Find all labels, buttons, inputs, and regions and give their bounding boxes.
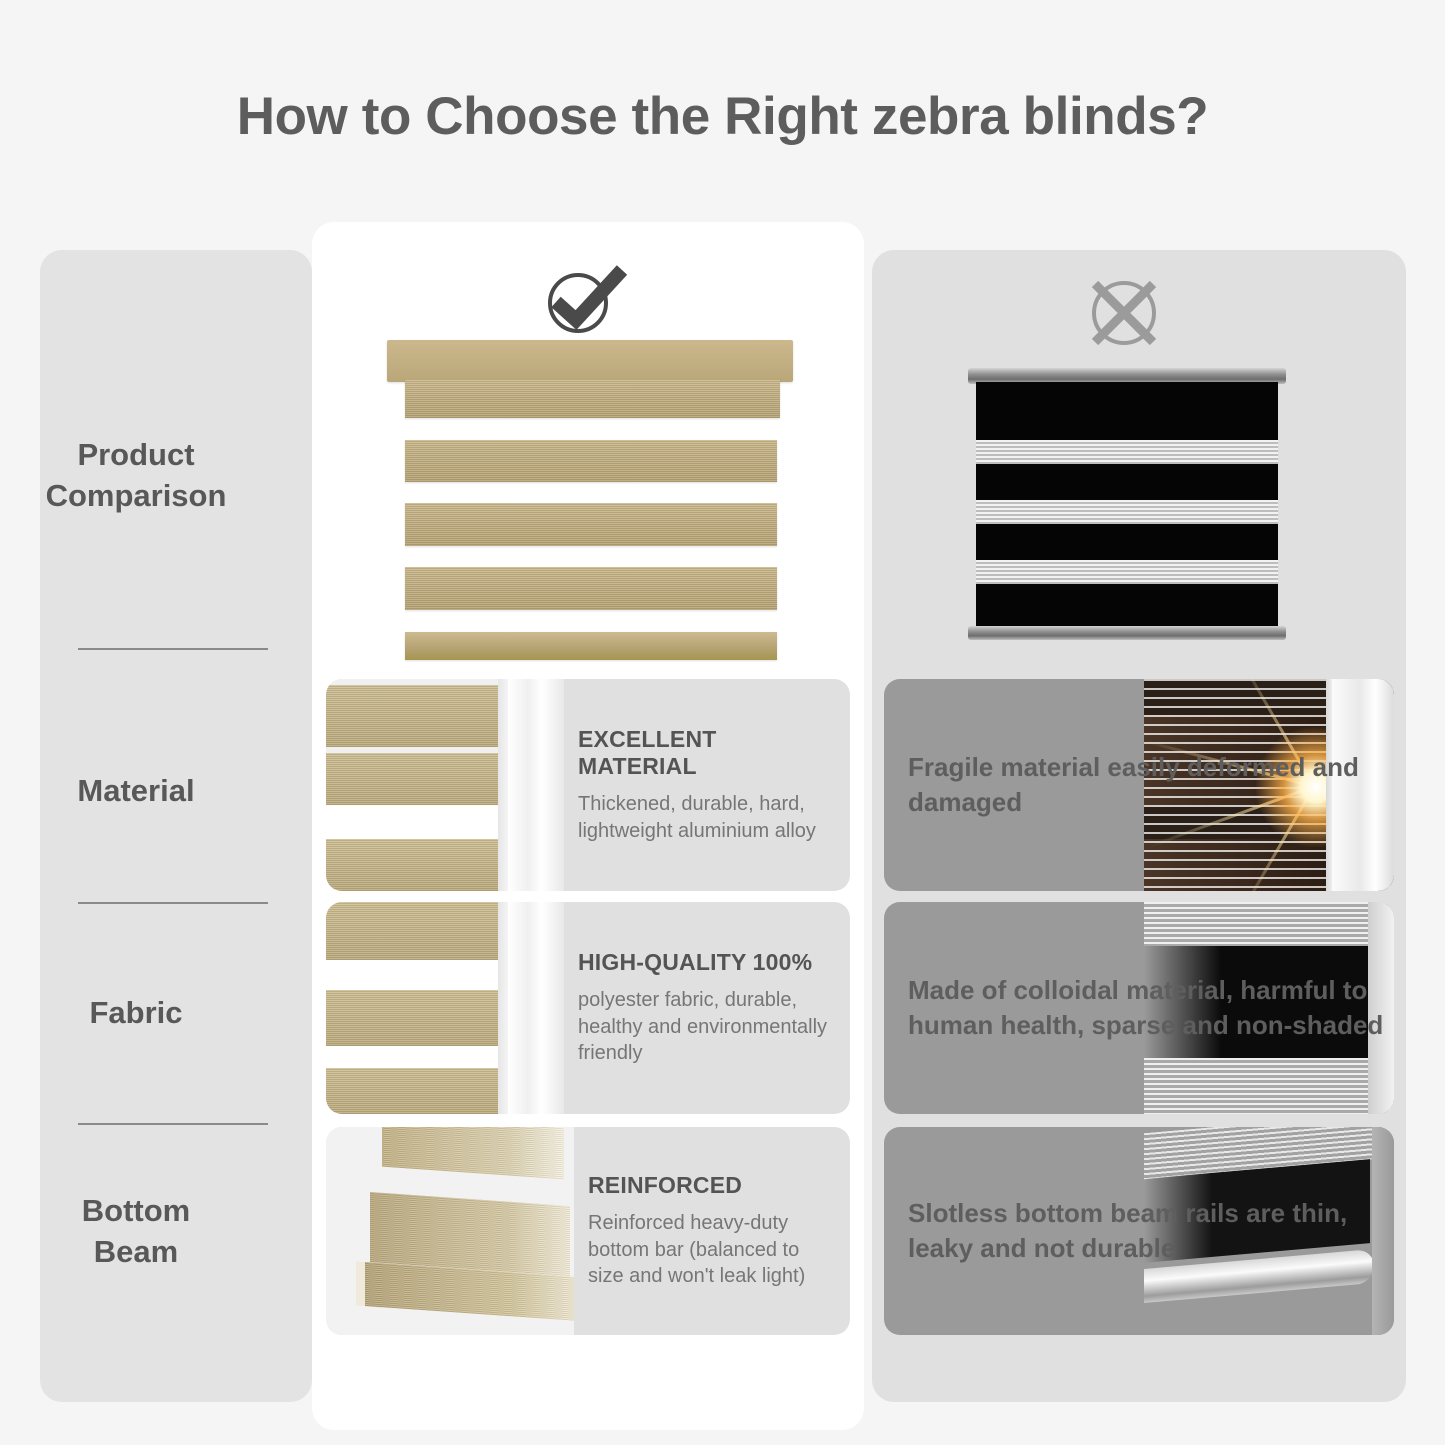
- good-card-fabric: HIGH-QUALITY 100% polyester fabric, dura…: [326, 902, 850, 1114]
- row-label-line1: Material: [0, 770, 272, 811]
- bad-card-fabric: Made of colloidal material, harmful to h…: [884, 902, 1394, 1114]
- row-label-line2: Comparison: [0, 475, 272, 516]
- blind-headrail: [387, 340, 793, 382]
- good-card-material-image: [326, 679, 564, 891]
- row-label-line1: Bottom: [0, 1190, 272, 1231]
- good-card-material-title: EXCELLENT MATERIAL: [578, 726, 832, 780]
- good-card-fabric-image: [326, 902, 564, 1114]
- blind-bottom-bar: [405, 632, 777, 660]
- hero-black-zebra-blind: [968, 368, 1286, 640]
- bad-card-material: Fragile material easily deformed and dam…: [884, 679, 1394, 891]
- row-label-line2: Beam: [0, 1231, 272, 1272]
- blind-fabric-body: [976, 382, 1278, 626]
- good-card-fabric-text: HIGH-QUALITY 100% polyester fabric, dura…: [564, 902, 850, 1114]
- label-divider-3: [78, 1123, 268, 1125]
- blind-slat: [405, 567, 777, 610]
- good-card-bottom-beam-desc: Reinforced heavy-duty bottom bar (balanc…: [588, 1210, 832, 1290]
- good-card-bottom-beam-title: REINFORCED: [588, 1172, 832, 1199]
- row-label-line1: Product: [0, 434, 272, 475]
- cross-circle-icon: [1083, 272, 1165, 354]
- bad-card-material-label: Fragile material easily deformed and dam…: [908, 750, 1386, 821]
- blind-sheer-stripe: [976, 440, 1278, 464]
- blind-sheer-stripe: [976, 500, 1278, 524]
- good-card-material-desc: Thickened, durable, hard, lightweight al…: [578, 791, 832, 844]
- row-label-line1: Fabric: [0, 992, 272, 1033]
- blind-slat: [405, 503, 777, 546]
- hero-beige-zebra-blind: [385, 340, 795, 665]
- row-label-bottom-beam: Bottom Beam: [0, 1190, 272, 1272]
- blind-slat: [405, 440, 777, 482]
- good-card-bottom-beam: REINFORCED Reinforced heavy-duty bottom …: [326, 1127, 850, 1335]
- bad-card-bottom-beam-label: Slotless bottom beam rails are thin, lea…: [908, 1196, 1386, 1267]
- check-circle-icon: [540, 258, 630, 338]
- bad-card-bottom-beam: Slotless bottom beam rails are thin, lea…: [884, 1127, 1394, 1335]
- good-card-bottom-beam-image: [326, 1127, 574, 1335]
- good-card-fabric-title: HIGH-QUALITY 100%: [578, 949, 832, 976]
- blind-slat: [382, 1127, 564, 1179]
- label-divider-1: [78, 648, 268, 650]
- page-title: How to Choose the Right zebra blinds?: [0, 86, 1445, 147]
- row-label-product-comparison: Product Comparison: [0, 434, 272, 516]
- good-card-material-text: EXCELLENT MATERIAL Thickened, durable, h…: [564, 679, 850, 891]
- good-card-fabric-desc: polyester fabric, durable, healthy and e…: [578, 987, 832, 1067]
- infographic-root: How to Choose the Right zebra blinds? Pr…: [0, 0, 1445, 1445]
- blind-bottom-bar: [968, 626, 1286, 640]
- bad-card-fabric-label: Made of colloidal material, harmful to h…: [908, 973, 1386, 1044]
- row-label-fabric: Fabric: [0, 992, 272, 1033]
- row-label-material: Material: [0, 770, 272, 811]
- blind-slat: [405, 380, 780, 418]
- good-card-material: EXCELLENT MATERIAL Thickened, durable, h…: [326, 679, 850, 891]
- blind-slat: [370, 1192, 570, 1276]
- good-card-bottom-beam-text: REINFORCED Reinforced heavy-duty bottom …: [574, 1127, 850, 1335]
- blind-sheer-stripe: [976, 560, 1278, 584]
- label-divider-2: [78, 902, 268, 904]
